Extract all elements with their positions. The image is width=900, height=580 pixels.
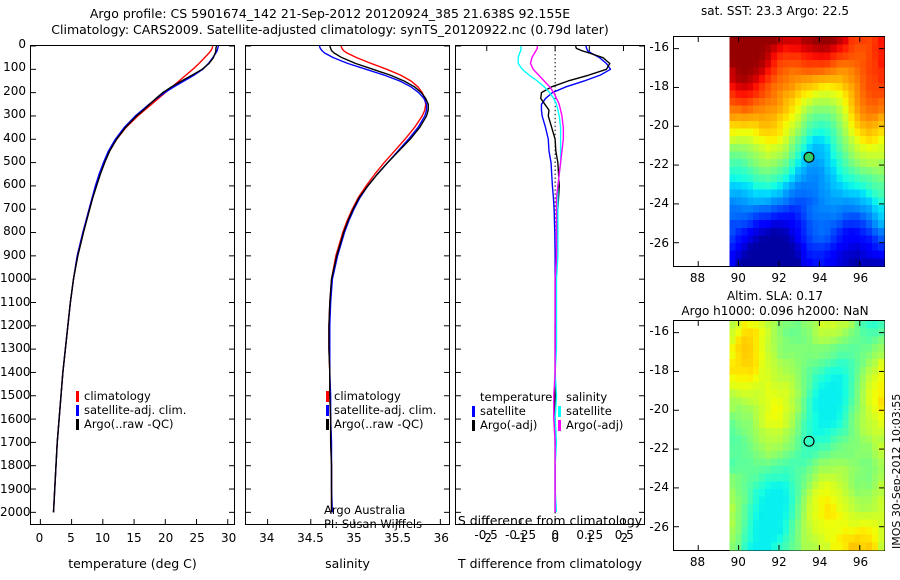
credit-line2: PI: Susan Wijffels [324, 517, 422, 531]
depth-tick-2000: 2000 [0, 505, 26, 519]
temperature-legend: climatologysatellite-adj. clim.Argo(..ra… [76, 389, 186, 431]
depth-tick-1900: 1900 [0, 482, 26, 496]
temperature-legend-row: satellite-adj. clim. [76, 403, 186, 417]
salinity-legend-label: satellite-adj. clim. [334, 403, 436, 417]
map-y-tick-neg26: -26 [639, 236, 669, 250]
temperature-legend-swatch [76, 391, 79, 402]
depth-tick-100: 100 [0, 60, 26, 74]
salinity-panel [245, 45, 450, 525]
difference-legend-temperature: temperaturesatelliteArgo(-adj) [472, 390, 552, 432]
temperature-legend-row: climatology [76, 389, 186, 403]
salinity-legend: climatologysatellite-adj. clim.Argo(..ra… [326, 389, 436, 431]
difference-legend-salinity-row: Argo(-adj) [558, 418, 623, 432]
depth-tick-700: 700 [0, 201, 26, 215]
sla-map-title-line2: Argo h1000: 0.096 h2000: NaN [655, 304, 895, 318]
salinity-legend-row: climatology [326, 389, 436, 403]
map-y-tick-neg24: -24 [639, 196, 669, 210]
difference-legend-salinity-label: satellite [566, 404, 612, 418]
depth-tick-800: 800 [0, 224, 26, 238]
salinity-legend-label: Argo(..raw -QC) [334, 417, 424, 431]
map-y-tick-neg16: -16 [639, 40, 669, 54]
depth-tick-1600: 1600 [0, 412, 26, 426]
difference-t-label: T difference from climatology [452, 556, 648, 571]
sst-map [673, 36, 885, 267]
sst-map-title: sat. SST: 23.3 Argo: 22.5 [665, 4, 885, 18]
salinity-legend-swatch [326, 419, 329, 430]
difference-legend-temperature-swatch [472, 420, 475, 431]
temperature-legend-swatch [76, 405, 79, 416]
temperature-legend-row: Argo(..raw -QC) [76, 417, 186, 431]
difference-panel [455, 45, 645, 525]
sst-map-raster [674, 37, 884, 266]
map-x-tick-96: 96 [836, 271, 886, 285]
sla-map [673, 320, 885, 551]
depth-tick-1300: 1300 [0, 341, 26, 355]
credit-block: Argo Australia PI: Susan Wijffels [324, 503, 422, 531]
depth-tick-1000: 1000 [0, 271, 26, 285]
depth-tick-1100: 1100 [0, 295, 26, 309]
difference-legend-temperature-header: temperature [472, 390, 552, 404]
salinity-x-label: salinity [245, 556, 450, 571]
temperature-panel [30, 45, 235, 525]
map-y-tick-neg26: -26 [639, 520, 669, 534]
map-x-tick-96: 96 [836, 555, 886, 569]
temperature-plot-area [31, 46, 234, 524]
salinity-legend-swatch [326, 405, 329, 416]
salinity-legend-row: satellite-adj. clim. [326, 403, 436, 417]
figure-title-line1: Argo profile: CS 5901674_142 21-Sep-2012… [0, 6, 660, 22]
difference-legend-temperature-row: Argo(-adj) [472, 418, 552, 432]
depth-tick-0: 0 [0, 37, 26, 51]
difference-legend-temperature-label: Argo(-adj) [480, 418, 537, 432]
difference-s-label: S difference from climatology [455, 513, 645, 528]
temperature-legend-swatch [76, 419, 79, 430]
map-y-tick-neg22: -22 [639, 441, 669, 455]
depth-tick-1400: 1400 [0, 365, 26, 379]
imos-timestamp: IMOS 30-Sep-2012 10:03:55 [890, 394, 900, 549]
argo-profile-figure: Argo profile: CS 5901674_142 21-Sep-2012… [0, 0, 900, 580]
salinity-plot-area [246, 46, 449, 524]
sla-map-raster [674, 321, 884, 550]
difference-legend-salinity-swatch [558, 420, 561, 431]
difference-legend-temperature-label: satellite [480, 404, 526, 418]
depth-tick-1700: 1700 [0, 435, 26, 449]
temperature-legend-label: satellite-adj. clim. [84, 403, 186, 417]
credit-line1: Argo Australia [324, 503, 422, 517]
depth-tick-1500: 1500 [0, 388, 26, 402]
temperature-legend-label: Argo(..raw -QC) [84, 417, 174, 431]
depth-tick-900: 900 [0, 248, 26, 262]
difference-legend-salinity-row: satellite [558, 404, 623, 418]
figure-title: Argo profile: CS 5901674_142 21-Sep-2012… [0, 6, 660, 38]
depth-tick-600: 600 [0, 177, 26, 191]
difference-legend-temperature-swatch [472, 406, 475, 417]
map-y-tick-neg20: -20 [639, 402, 669, 416]
depth-tick-200: 200 [0, 84, 26, 98]
depth-tick-500: 500 [0, 154, 26, 168]
difference-legend-salinity-header: salinity [558, 390, 623, 404]
difference-legend-salinity-swatch [558, 406, 561, 417]
temperature-legend-label: climatology [84, 389, 151, 403]
salinity-legend-row: Argo(..raw -QC) [326, 417, 436, 431]
temperature-x-label: temperature (deg C) [30, 556, 235, 571]
depth-tick-1800: 1800 [0, 458, 26, 472]
salinity-legend-swatch [326, 391, 329, 402]
depth-tick-400: 400 [0, 131, 26, 145]
difference-legend-salinity: salinitysatelliteArgo(-adj) [558, 390, 623, 432]
depth-tick-300: 300 [0, 107, 26, 121]
figure-title-line2: Climatology: CARS2009. Satellite-adjuste… [0, 22, 660, 38]
map-y-tick-neg24: -24 [639, 480, 669, 494]
salinity-legend-label: climatology [334, 389, 401, 403]
map-y-tick-neg22: -22 [639, 157, 669, 171]
difference-legend-salinity-label: Argo(-adj) [566, 418, 623, 432]
map-y-tick-neg16: -16 [639, 324, 669, 338]
map-y-tick-neg20: -20 [639, 118, 669, 132]
depth-tick-1200: 1200 [0, 318, 26, 332]
sla-map-title-line1: Altim. SLA: 0.17 [665, 289, 885, 303]
map-y-tick-neg18: -18 [639, 79, 669, 93]
map-y-tick-neg18: -18 [639, 363, 669, 377]
difference-plot-area [456, 46, 644, 524]
difference-legend-temperature-row: satellite [472, 404, 552, 418]
